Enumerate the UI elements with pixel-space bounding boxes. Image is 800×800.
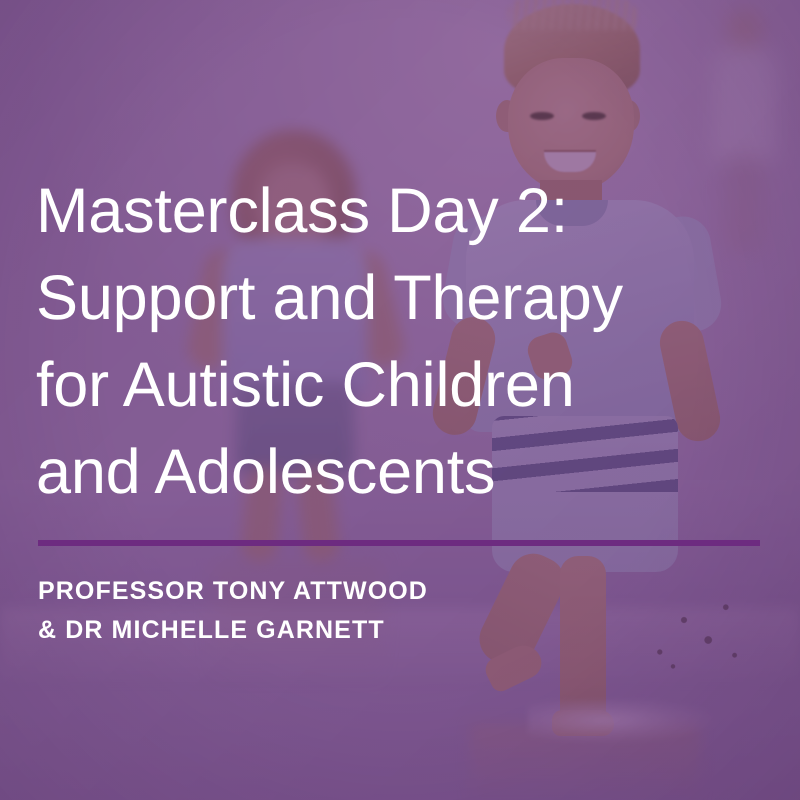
presenter-credits: PROFESSOR TONY ATTWOOD & DR MICHELLE GAR…	[38, 572, 738, 650]
masterclass-promo-banner: Masterclass Day 2: Support and Therapy f…	[0, 0, 800, 800]
page-title: Masterclass Day 2: Support and Therapy f…	[36, 168, 760, 516]
banner-content: Masterclass Day 2: Support and Therapy f…	[0, 0, 800, 800]
divider	[38, 540, 760, 546]
